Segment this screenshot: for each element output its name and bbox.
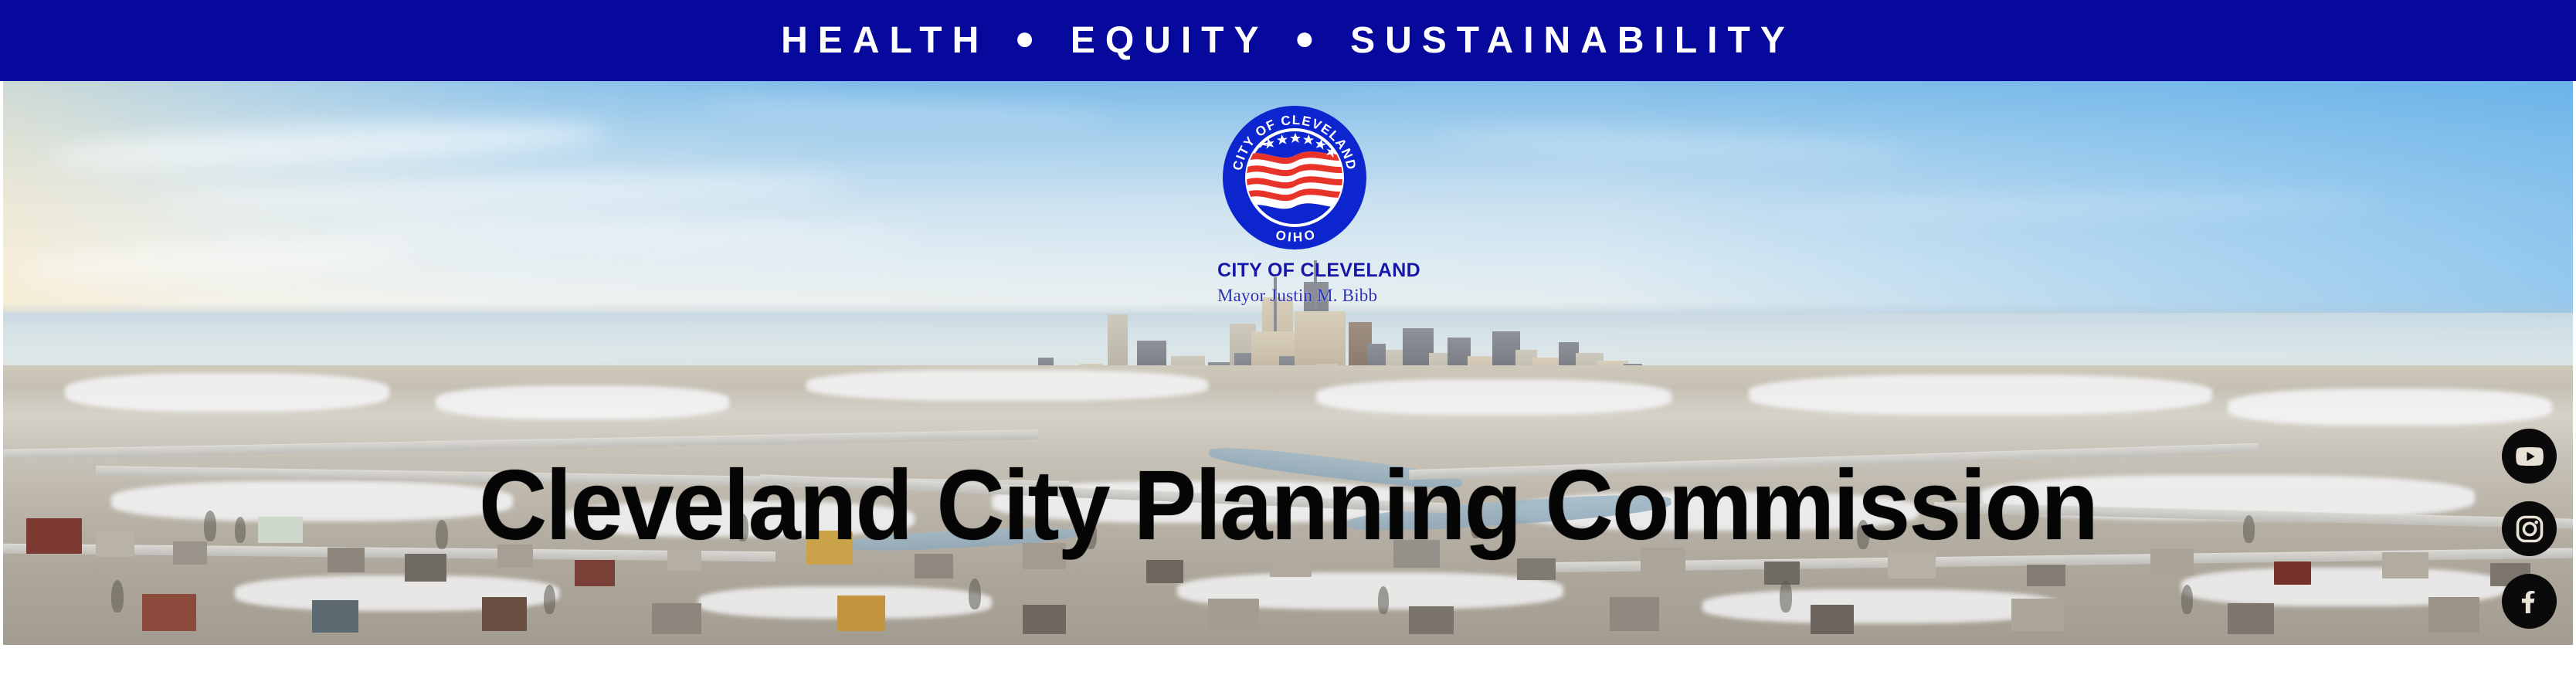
- city-seal-lockup: CITY OF CLEVELAND OHIO CITY OF CLEVELAND…: [1217, 104, 1372, 305]
- youtube-icon: [2514, 441, 2545, 472]
- hero-photo: CITY OF CLEVELAND OHIO CITY OF CLEVELAND…: [3, 81, 2573, 645]
- social-link-youtube[interactable]: [2502, 429, 2557, 484]
- page-title: Cleveland City Planning Commission: [61, 456, 2515, 555]
- tagline-word-sustainability: SUSTAINABILITY: [1350, 22, 1795, 59]
- tagline-word-equity: EQUITY: [1071, 22, 1269, 59]
- tagline-separator-dot-1: ●: [1014, 22, 1035, 56]
- facebook-icon: [2514, 586, 2545, 617]
- social-link-instagram[interactable]: [2502, 501, 2557, 556]
- social-links: [2502, 429, 2557, 629]
- instagram-icon: [2514, 514, 2545, 545]
- mayor-name-label: Mayor Justin M. Bibb: [1217, 286, 1372, 305]
- city-of-cleveland-seal-icon: CITY OF CLEVELAND OHIO: [1221, 104, 1368, 251]
- page-root: HEALTH ● EQUITY ● SUSTAINABILITY: [0, 0, 2576, 682]
- tagline-banner: HEALTH ● EQUITY ● SUSTAINABILITY: [0, 0, 2576, 81]
- tagline-separator-dot-2: ●: [1295, 22, 1315, 56]
- city-name-label: CITY OF CLEVELAND: [1217, 260, 1372, 282]
- tagline-inner: HEALTH ● EQUITY ● SUSTAINABILITY: [781, 22, 1795, 59]
- tagline-word-health: HEALTH: [781, 22, 989, 59]
- social-link-facebook[interactable]: [2502, 574, 2557, 629]
